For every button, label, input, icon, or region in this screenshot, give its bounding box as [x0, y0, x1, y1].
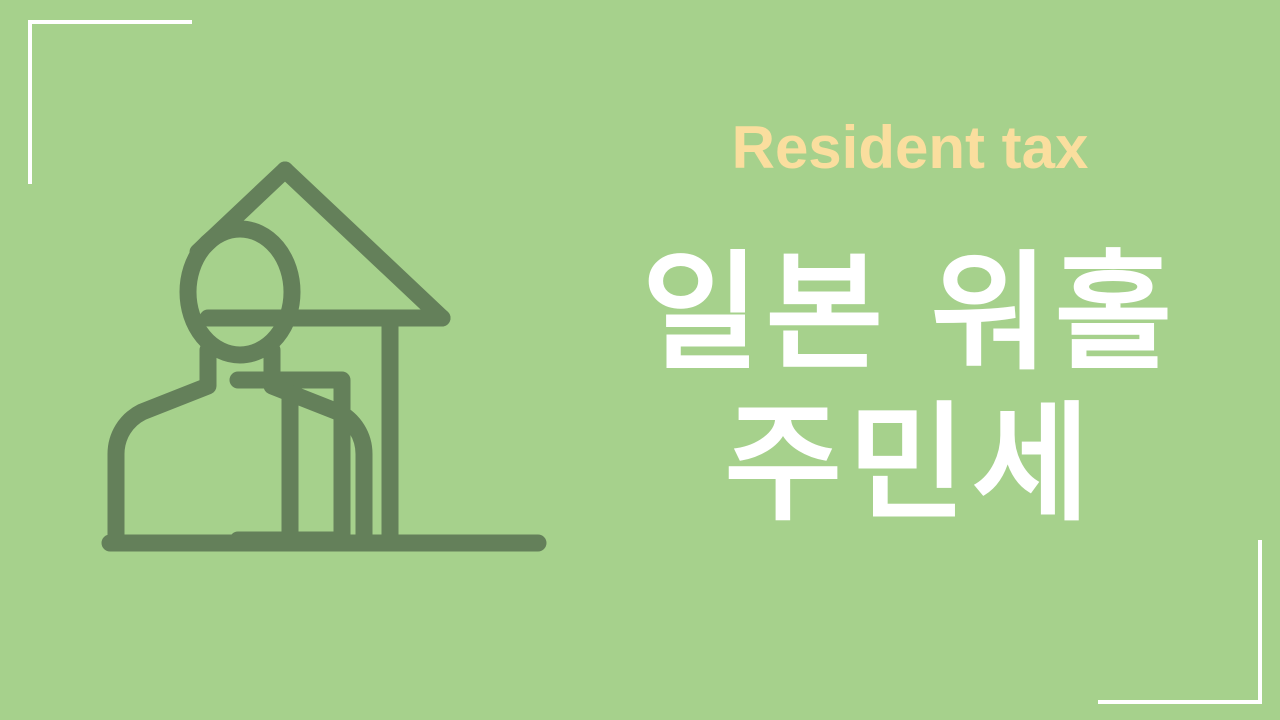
person-in-front-of-house-icon	[90, 140, 560, 570]
roof-right-slope	[285, 170, 442, 318]
headline-line-1: 일본 워홀	[600, 238, 1220, 389]
text-block: Resident tax 일본 워홀 주민세	[600, 118, 1220, 540]
headline-line-2: 주민세	[600, 389, 1220, 540]
eyebrow-label: Resident tax	[600, 118, 1220, 178]
house-person-svg	[90, 140, 560, 570]
headline: 일본 워홀 주민세	[600, 238, 1220, 540]
thumbnail-canvas: Resident tax 일본 워홀 주민세	[0, 0, 1280, 720]
corner-bracket-bottom-right	[1098, 540, 1262, 704]
person-head	[188, 229, 292, 355]
